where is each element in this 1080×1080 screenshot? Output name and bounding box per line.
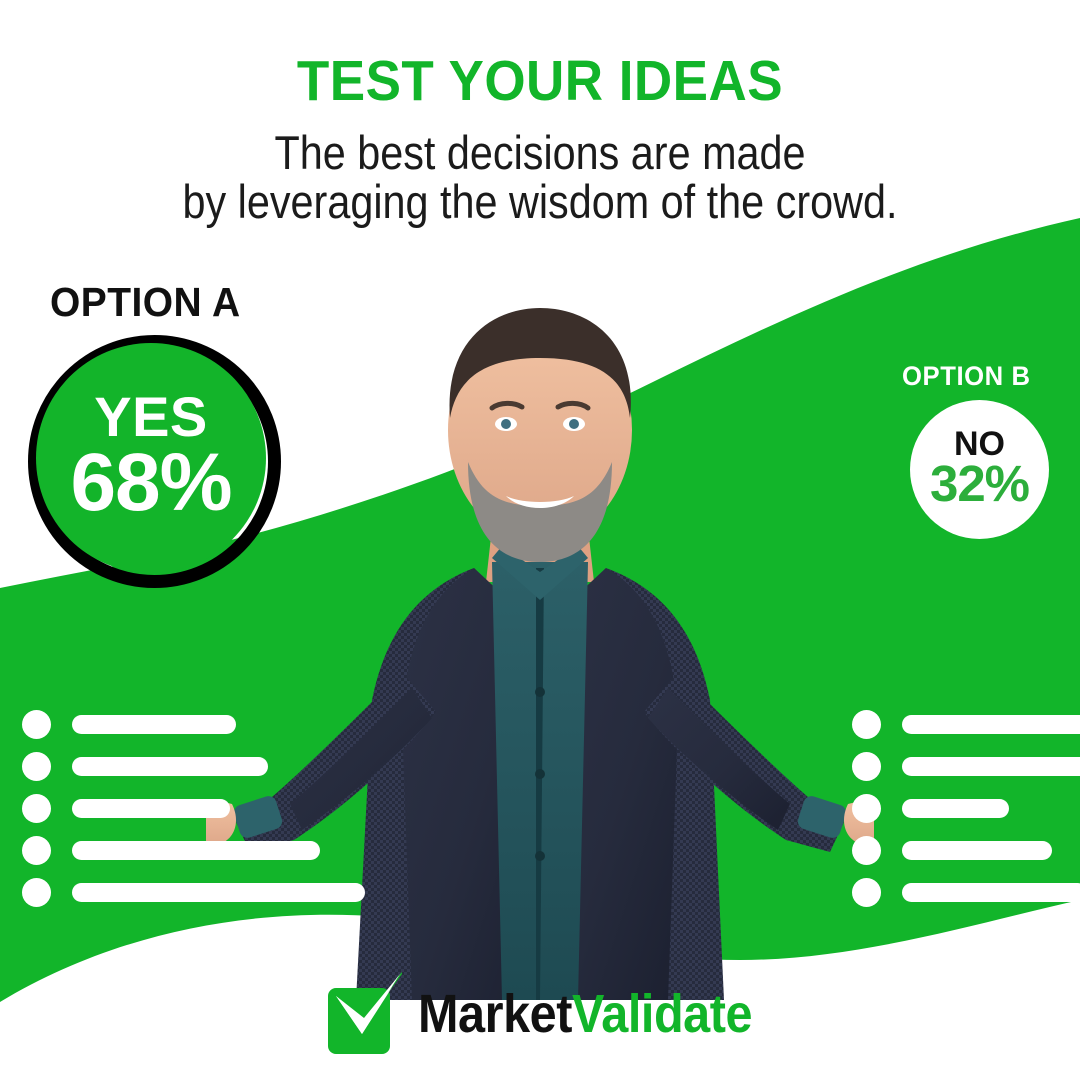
poll-infographic: TEST YOUR IDEAS The best decisions are m…	[0, 0, 1080, 1080]
bullet-dot-icon	[852, 794, 881, 823]
option-b-percent: 32%	[930, 460, 1029, 508]
bullet-dot-icon	[852, 836, 881, 865]
bullet-dot-icon	[852, 710, 881, 739]
placeholder-text-bar	[72, 799, 230, 818]
placeholder-text-bar	[902, 799, 1009, 818]
placeholder-text-bar	[72, 715, 236, 734]
option-b-label: OPTION B	[902, 361, 1031, 392]
bullet-dot-icon	[22, 836, 51, 865]
bullet-dot-icon	[852, 752, 881, 781]
option-a-label: OPTION A	[50, 279, 241, 326]
option-a-percent: 68%	[70, 444, 231, 521]
placeholder-text-bar	[902, 883, 1080, 902]
option-a-answer: YES	[94, 391, 208, 443]
brand-name-part1: Market	[418, 984, 572, 1044]
brand-name-part2: Validate	[572, 984, 752, 1044]
placeholder-text-bar	[902, 757, 1080, 776]
placeholder-text-bar	[72, 841, 320, 860]
bullet-dot-icon	[22, 878, 51, 907]
placeholder-text-bar	[902, 715, 1080, 734]
brand-logo[interactable]: MarketValidate	[324, 972, 789, 1056]
placeholder-text-bar	[902, 841, 1052, 860]
green-checkmark-box-icon	[324, 972, 404, 1056]
bullet-dot-icon	[22, 794, 51, 823]
brand-wordmark: MarketValidate	[418, 987, 752, 1041]
bullet-dot-icon	[852, 878, 881, 907]
subtitle-line-2: by leveraging the wisdom of the crowd.	[65, 177, 1015, 228]
option-b-result[interactable]: NO 32%	[910, 400, 1049, 539]
placeholder-text-bar	[72, 757, 268, 776]
option-a-result[interactable]: YES 68%	[36, 343, 266, 573]
placeholder-text-bar	[72, 883, 365, 902]
bullet-dot-icon	[22, 752, 51, 781]
bullet-dot-icon	[22, 710, 51, 739]
page-title: TEST YOUR IDEAS	[38, 52, 1042, 112]
subtitle-line-1: The best decisions are made	[65, 128, 1015, 179]
